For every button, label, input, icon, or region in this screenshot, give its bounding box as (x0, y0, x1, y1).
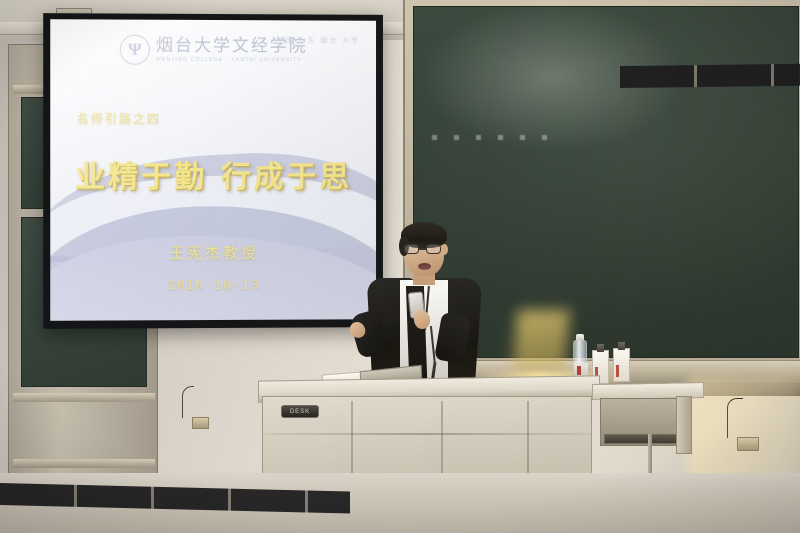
wall-cable (182, 386, 194, 418)
slide-logo-en: WENJING COLLEGE , YANTAI UNIVERSITY (156, 57, 308, 64)
ear (441, 244, 448, 255)
board-rail (13, 459, 155, 468)
projected-slide: Ψ 烟台大学文经学院 WENJING COLLEGE , YANTAI UNIV… (50, 19, 376, 321)
eyeglasses-icon (404, 244, 419, 254)
projection-screen: Ψ 烟台大学文经学院 WENJING COLLEGE , YANTAI UNIV… (43, 13, 383, 329)
chalk-marks (432, 135, 552, 140)
lectern-seam (263, 433, 591, 435)
baseboard-tiles (0, 483, 350, 514)
photo-scene: Ψ 烟台大学文经学院 WENJING COLLEGE , YANTAI UNIV… (0, 0, 800, 533)
sunlight-patch (512, 310, 569, 372)
wall-cable (727, 398, 743, 438)
board-rail (13, 393, 155, 402)
baseboard-tiles (620, 64, 800, 88)
university-crest-icon: Ψ (120, 35, 150, 65)
slide-corner-marks: 中国 山东 烟台 大学 (277, 35, 360, 47)
wall-mounted-junction-box (192, 417, 209, 429)
baseboard (0, 473, 800, 533)
side-desk-leg (676, 396, 692, 454)
slide-date: 2016-10-13 (50, 277, 376, 292)
slide-title: 业精于勤 行成于思 (50, 152, 376, 196)
eyeglasses-icon (426, 244, 441, 254)
paper-carton (613, 348, 630, 382)
slide-subtitle: 名师引路之四 (77, 110, 161, 127)
eyeglasses-bridge (419, 248, 426, 250)
slide-speaker-name: 王宪杰教授 (50, 242, 376, 264)
mouth (418, 263, 431, 270)
side-desk-slot (604, 434, 684, 444)
wall-mounted-junction-box (737, 437, 759, 451)
lectern-badge: DESK (281, 405, 319, 418)
